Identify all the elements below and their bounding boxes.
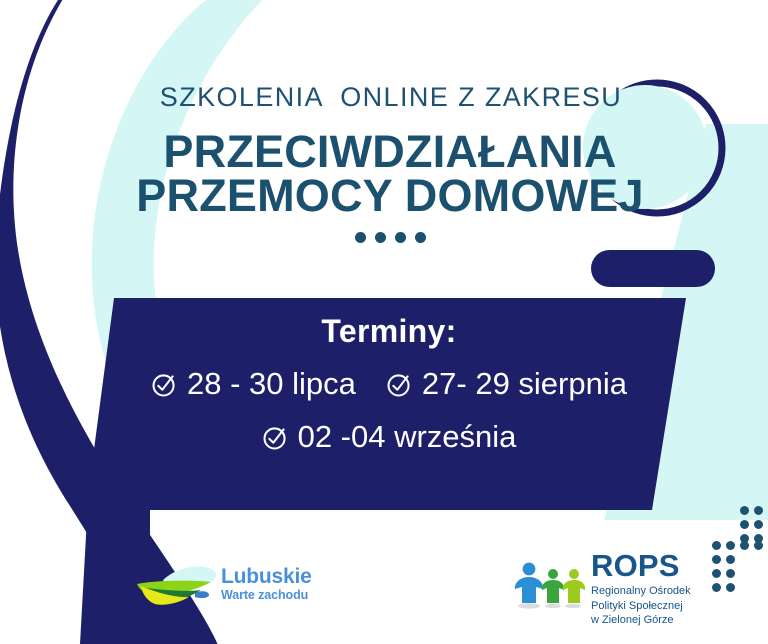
poster-headline-line1: PRZECIWDZIAŁANIA: [0, 129, 768, 174]
rops-acronym: ROPS: [591, 550, 691, 581]
poster-canvas: SZKOLENIA ONLINE Z ZAKRESU PRZECIWDZIAŁA…: [0, 0, 768, 644]
date-item: 02 -04 września: [262, 419, 517, 455]
separator-dot: [415, 232, 426, 243]
grid-dot: [754, 520, 763, 529]
poster-eyebrow: SZKOLENIA ONLINE Z ZAKRESU: [0, 82, 768, 113]
rops-wordmark: ROPS Regionalny Ośrodek Polityki Społecz…: [591, 550, 691, 628]
date-item: 27- 29 sierpnia: [386, 366, 627, 402]
dot-separator: [0, 232, 768, 243]
logo-rops: ROPS Regionalny Ośrodek Polityki Społecz…: [513, 550, 693, 628]
rops-people-icon: [513, 556, 591, 614]
check-circle-icon: [386, 371, 413, 398]
lubuskie-tagline: Warte zachodu: [221, 588, 312, 602]
rops-subtitle-line2: Polityki Społecznej: [591, 599, 691, 614]
grid-dot: [754, 541, 763, 550]
poster-headline-line2: PRZEMOCY DOMOWEJ: [0, 173, 768, 218]
grid-dot: [726, 555, 735, 564]
separator-dot: [355, 232, 366, 243]
grid-dot: [740, 506, 749, 515]
check-circle-icon: [151, 371, 178, 398]
date-item: 28 - 30 lipca: [151, 366, 356, 402]
navy-pill: [591, 250, 715, 287]
rops-subtitle-line3: w Zielonej Górze: [591, 613, 691, 628]
grid-dot: [712, 583, 721, 592]
date-label: 27- 29 sierpnia: [422, 366, 627, 402]
grid-dot: [740, 541, 749, 550]
grid-dot: [712, 555, 721, 564]
separator-dot: [375, 232, 386, 243]
dates-panel-title: Terminy:: [0, 313, 768, 350]
grid-dot: [726, 541, 735, 550]
dates-row-second: 02 -04 września: [0, 419, 768, 455]
grid-dot: [712, 569, 721, 578]
grid-dot: [726, 569, 735, 578]
logo-lubuskie: Lubuskie Warte zachodu: [135, 558, 325, 618]
grid-dot: [712, 541, 721, 550]
date-label: 02 -04 września: [298, 419, 517, 455]
grid-dot: [754, 506, 763, 515]
date-label: 28 - 30 lipca: [187, 366, 356, 402]
separator-dot: [395, 232, 406, 243]
grid-dot: [726, 583, 735, 592]
rops-subtitle-line1: Regionalny Ośrodek: [591, 584, 691, 599]
check-circle-icon: [262, 424, 289, 451]
lubuskie-wordmark: Lubuskie Warte zachodu: [221, 566, 312, 602]
lubuskie-name: Lubuskie: [221, 566, 312, 587]
lubuskie-wave-icon: [135, 562, 227, 608]
grid-dot: [740, 520, 749, 529]
dates-row-first: 28 - 30 lipca 27- 29 sierpnia: [0, 366, 768, 402]
